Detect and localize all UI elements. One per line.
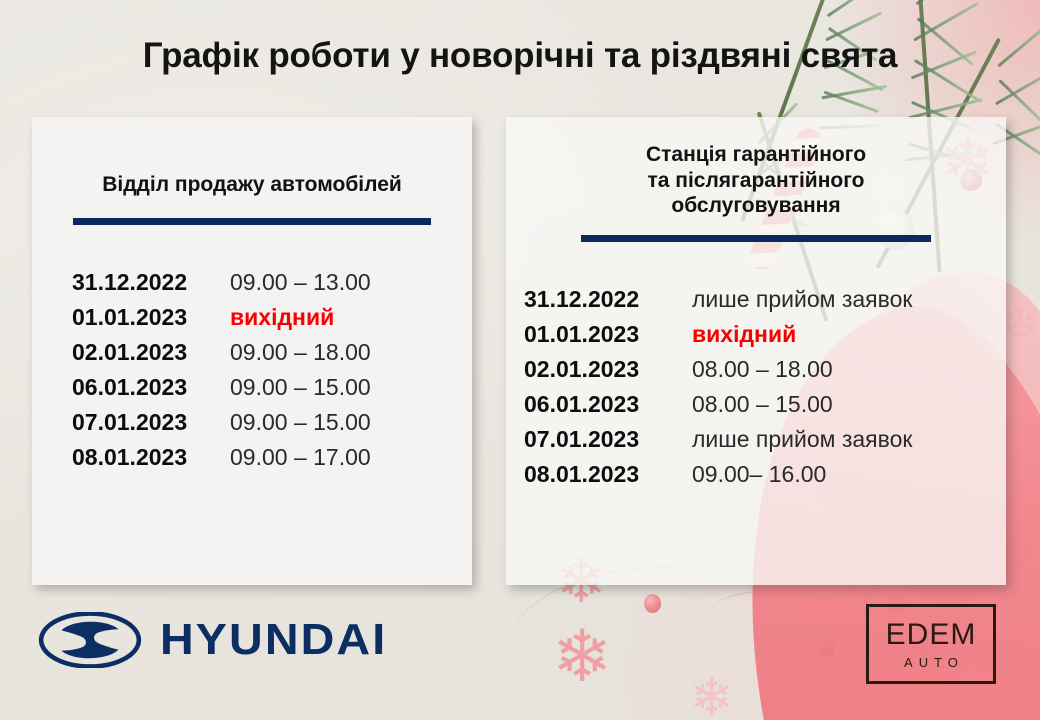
fir-needle-icon: [827, 0, 873, 17]
schedule-row: 31.12.2022 09.00 – 13.00: [72, 269, 472, 304]
schedule-hours: 09.00 – 15.00: [220, 374, 371, 401]
schedule-hours: 09.00 – 15.00: [220, 409, 371, 436]
schedule-date: 31.12.2022: [72, 269, 220, 296]
schedule-date: 31.12.2022: [524, 286, 682, 313]
schedule-date: 07.01.2023: [72, 409, 220, 436]
hyundai-emblem-icon: [38, 612, 142, 668]
card-heading-sales: Відділ продажу автомобілей: [32, 172, 472, 198]
schedule-row: 02.01.2023 08.00 – 18.00: [524, 356, 1006, 391]
schedule-hours: 08.00 – 15.00: [682, 391, 833, 418]
edem-auto-logo: EDEM AUTO: [866, 604, 996, 684]
schedule-hours: 09.00– 16.00: [682, 461, 826, 488]
schedule-date: 01.01.2023: [72, 304, 220, 331]
snowflake-icon: ❄: [690, 672, 734, 720]
schedule-list-sales: 31.12.2022 09.00 – 13.00 01.01.2023 вихі…: [32, 269, 472, 479]
fir-needle-icon: [916, 0, 973, 5]
schedule-date: 01.01.2023: [524, 321, 682, 348]
schedule-row: 08.01.2023 09.00– 16.00: [524, 461, 1006, 496]
snowflake-icon: ❄: [552, 620, 612, 692]
heading-underline: [581, 235, 931, 242]
card-heading-line: Станція гарантійного: [506, 142, 1006, 168]
snowflake-icon: ❄: [1000, 300, 1040, 348]
card-heading-line: Відділ продажу автомобілей: [32, 172, 472, 198]
schedule-hours: лише прийом заявок: [682, 426, 912, 453]
schedule-hours: 09.00 – 13.00: [220, 269, 371, 296]
schedule-date: 08.01.2023: [524, 461, 682, 488]
fir-needle-icon: [998, 79, 1040, 121]
heading-underline: [73, 218, 431, 225]
edem-sub-wordmark: AUTO: [898, 656, 964, 669]
schedule-row: 31.12.2022 лише прийом заявок: [524, 286, 1006, 321]
card-heading-service: Станція гарантійного та післягарантійног…: [506, 142, 1006, 219]
schedule-date: 06.01.2023: [72, 374, 220, 401]
schedule-row: 06.01.2023 08.00 – 15.00: [524, 391, 1006, 426]
schedule-date: 02.01.2023: [72, 339, 220, 366]
schedule-date: 07.01.2023: [524, 426, 682, 453]
schedule-row: 02.01.2023 09.00 – 18.00: [72, 339, 472, 374]
hyundai-wordmark: HYUNDAI: [160, 615, 387, 665]
schedule-date: 08.01.2023: [72, 444, 220, 471]
schedule-card-sales: Відділ продажу автомобілей 31.12.2022 09…: [32, 117, 472, 585]
bead-icon: [644, 594, 661, 613]
schedule-date: 02.01.2023: [524, 356, 682, 383]
schedule-row: 08.01.2023 09.00 – 17.00: [72, 444, 472, 479]
bead-icon: [818, 638, 835, 657]
edem-wordmark: EDEM: [886, 620, 977, 650]
card-heading-line: та післягарантійного: [506, 168, 1006, 194]
schedule-hours: 09.00 – 17.00: [220, 444, 371, 471]
schedule-card-service: Станція гарантійного та післягарантійног…: [506, 117, 1006, 585]
schedule-hours: 09.00 – 18.00: [220, 339, 371, 366]
page-title: Графік роботи у новорічні та різдвяні св…: [0, 36, 1040, 76]
schedule-row: 01.01.2023 вихідний: [524, 321, 1006, 356]
schedule-row: 06.01.2023 09.00 – 15.00: [72, 374, 472, 409]
schedule-hours: вихідний: [682, 321, 796, 348]
schedule-hours: вихідний: [220, 304, 334, 331]
fir-needle-icon: [824, 91, 880, 114]
hyundai-logo: HYUNDAI: [38, 612, 374, 668]
schedule-row: 07.01.2023 09.00 – 15.00: [72, 409, 472, 444]
poster-canvas: ❄ ❄ ❄ ❄ ❄ ❄ ❄ ❄ ❄ Графік роботи у новорі…: [0, 0, 1040, 720]
schedule-date: 06.01.2023: [524, 391, 682, 418]
schedule-hours: лише прийом заявок: [682, 286, 912, 313]
card-heading-line: обслуговування: [506, 193, 1006, 219]
schedule-list-service: 31.12.2022 лише прийом заявок 01.01.2023…: [506, 286, 1006, 496]
fir-needle-icon: [821, 85, 887, 99]
schedule-row: 07.01.2023 лише прийом заявок: [524, 426, 1006, 461]
schedule-row: 01.01.2023 вихідний: [72, 304, 472, 339]
schedule-hours: 08.00 – 18.00: [682, 356, 833, 383]
